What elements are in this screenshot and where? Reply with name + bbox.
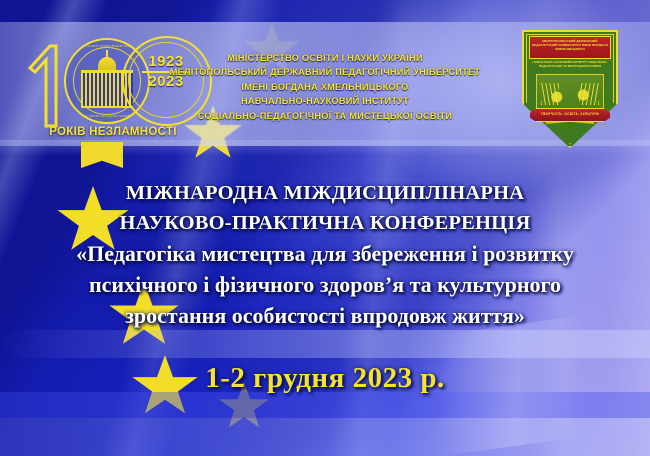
institute-emblem: МЕЛІТОПОЛЬСЬКИЙ ДЕРЖАВНИЙ ПЕДАГОГІЧНИЙ У… [522,30,618,148]
title-quote-line: «Педагогіка мистецтва для збереження і р… [22,238,628,269]
title-head-line: МІЖНАРОДНА МІЖДИСЦИПЛІНАРНА [22,178,628,208]
title-head-line: НАУКОВО-ПРАКТИЧНА КОНФЕРЕНЦІЯ [22,208,628,238]
ministry-line: ІМЕНІ БОГДАНА ХМЕЛЬНИЦЬКОГО [157,81,493,95]
conference-poster: МЕЛІТОПОЛЬСЬКИЙ ДЕРЖАВНИЙ ПЕДАГОГІЧНИЙ У… [0,0,650,456]
ministry-line: МЕЛІТОПОЛЬСЬКИЙ ДЕРЖАВНИЙ ПЕДАГОГІЧНИЙ У… [157,66,493,80]
title-quote-line: зростання особистості впродовж життя» [22,300,628,331]
emblem-ribbon-text: ТВОРЧІСТЬ. ОСВІТА. КУЛЬТУРА [530,112,610,116]
conference-title: МІЖНАРОДНА МІЖДИСЦИПЛІНАРНА НАУКОВО-ПРАК… [22,178,628,331]
title-quote-line: психічного і фізичного здоров’я та культ… [22,269,628,300]
ministry-line: МІНІСТЕРСТВО ОСВІТИ І НАУКИ УКРАЇНИ [157,52,493,66]
conference-date: 1-2 грудня 2023 р. [0,362,650,395]
ministry-line: НАВЧАЛЬНО-НАУКОВИЙ ІНСТИТУТ [157,95,493,109]
emblem-ribbon: ТВОРЧІСТЬ. ОСВІТА. КУЛЬТУРА [530,108,610,122]
emblem-banner: МЕЛІТОПОЛЬСЬКИЙ ДЕРЖАВНИЙ ПЕДАГОГІЧНИЙ У… [529,36,611,59]
emblem-banner-text: МЕЛІТОПОЛЬСЬКИЙ ДЕРЖАВНИЙ ПЕДАГОГІЧНИЙ У… [531,39,609,52]
ministry-affiliation-text: МІНІСТЕРСТВО ОСВІТИ І НАУКИ УКРАЇНИ МЕЛІ… [157,52,493,124]
logo-caption: РОКІВ НЕЗЛАМНОСТІ [32,126,194,138]
emblem-subtitle-text: НАВЧАЛЬНО-НАУКОВИЙ ІНСТИТУТ СОЦІАЛЬНО-ПЕ… [529,60,611,69]
ministry-line: СОЦІАЛЬНО-ПЕДАГОГІЧНОЇ ТА МИСТЕЦЬКОЇ ОСВ… [157,110,493,124]
